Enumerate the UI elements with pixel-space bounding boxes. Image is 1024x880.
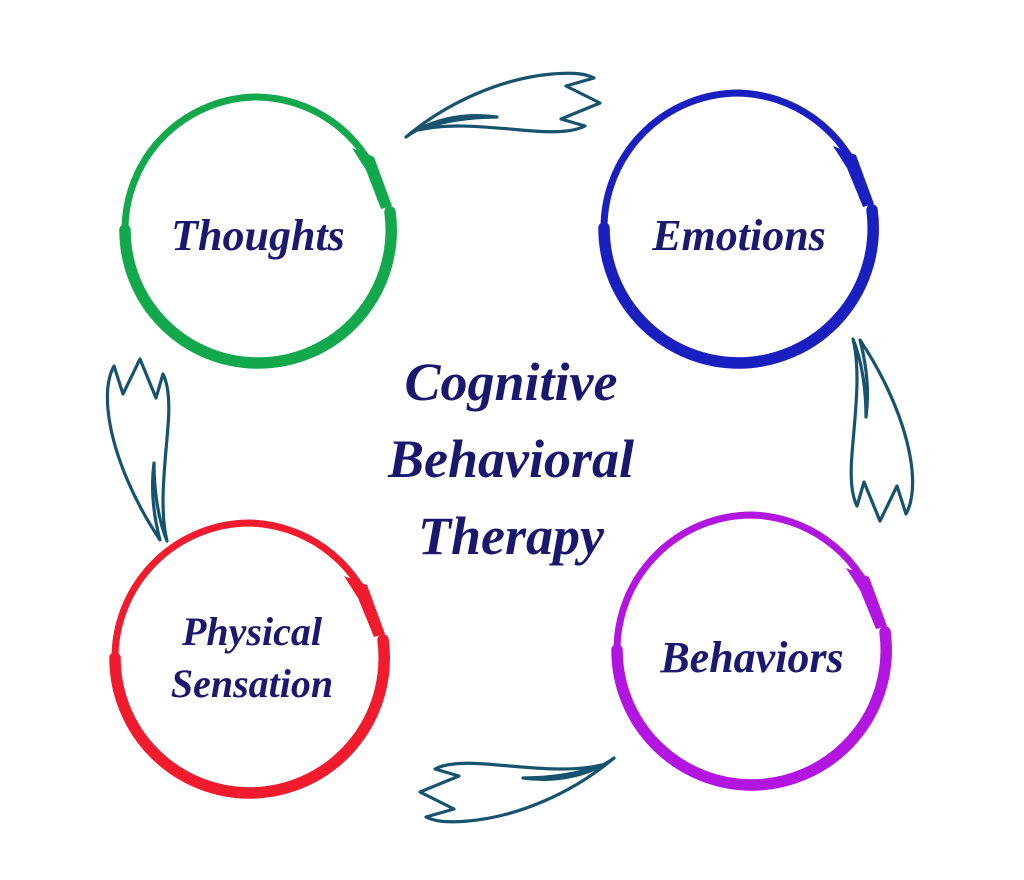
- ring-emotions-thin: [604, 93, 861, 228]
- arrow-physical-to-thoughts: [107, 359, 168, 541]
- ring-emotions-arrowhead: [833, 146, 874, 207]
- ring-behaviors-thin: [617, 515, 874, 650]
- node-physical-sensation-label-line2: Sensation: [171, 661, 333, 706]
- node-physical-sensation-label-line1: Physical: [181, 609, 323, 654]
- center-title-line3: Therapy: [418, 506, 605, 566]
- ring-behaviors-arrowhead: [846, 568, 887, 629]
- node-thoughts-label: Thoughts: [171, 211, 345, 260]
- node-emotions-label: Emotions: [651, 211, 826, 260]
- arrow-thoughts-to-emotions: [406, 73, 600, 137]
- ring-thoughts-thin: [125, 97, 379, 230]
- center-title-line1: Cognitive: [405, 352, 618, 412]
- arrow-down-icon: [851, 339, 912, 521]
- node-thoughts[interactable]: Thoughts: [125, 97, 392, 363]
- node-behaviors-label: Behaviors: [659, 633, 843, 682]
- arrow-behaviors-to-physical: [420, 758, 614, 822]
- cbt-diagram: Thoughts Emotions Behaviors Physical Sen…: [0, 0, 1024, 880]
- arrow-left-icon: [420, 758, 614, 822]
- arrow-emotions-to-behaviors: [851, 339, 912, 521]
- center-title: Cognitive Behavioral Therapy: [387, 352, 634, 566]
- ring-thoughts-arrowhead: [352, 148, 392, 209]
- center-title-line2: Behavioral: [387, 429, 634, 489]
- node-emotions[interactable]: Emotions: [604, 93, 874, 363]
- arrow-right-icon: [406, 73, 600, 137]
- cbt-cycle-canvas: Thoughts Emotions Behaviors Physical Sen…: [0, 0, 1024, 880]
- arrow-up-icon: [107, 359, 168, 541]
- ring-physical-arrowhead: [344, 576, 385, 637]
- node-physical-sensation[interactable]: Physical Sensation: [115, 523, 385, 793]
- node-behaviors[interactable]: Behaviors: [617, 515, 887, 785]
